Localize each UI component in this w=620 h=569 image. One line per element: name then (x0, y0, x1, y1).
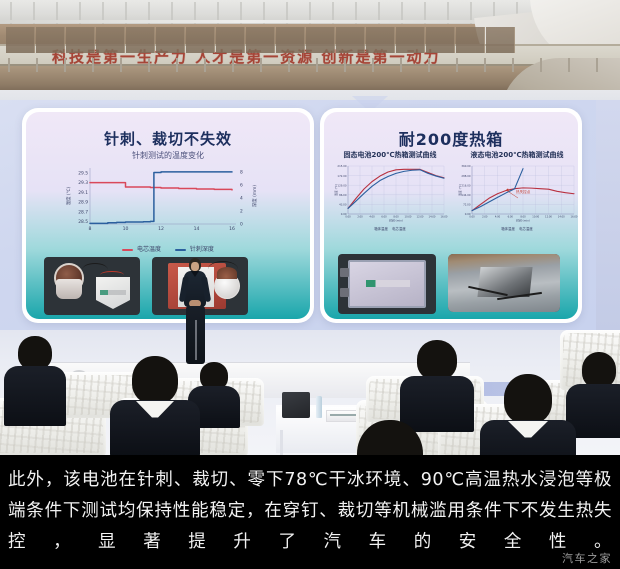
svg-text:6:00: 6:00 (381, 216, 387, 219)
svg-text:28.9: 28.9 (78, 200, 88, 206)
svg-text:10: 10 (123, 226, 129, 232)
railing-post (288, 58, 290, 72)
balcony-panel (246, 27, 275, 53)
legend-swatch-blue (175, 249, 186, 251)
svg-text:10:00: 10:00 (405, 216, 412, 219)
balcony-panel (426, 27, 455, 53)
audience-member (330, 420, 450, 455)
railing-post (456, 58, 458, 72)
svg-text:时间 (min): 时间 (min) (389, 219, 403, 223)
svg-text:4:00: 4:00 (495, 216, 501, 219)
svg-text:14:00: 14:00 (558, 216, 565, 219)
balcony-panel (36, 27, 65, 53)
svg-text:86.00: 86.00 (339, 193, 347, 197)
svg-text:144.00: 144.00 (461, 193, 470, 197)
audience-head (132, 356, 178, 404)
svg-text:2:00: 2:00 (482, 216, 488, 219)
audience-head (417, 340, 457, 380)
svg-text:8: 8 (240, 170, 243, 176)
svg-text:28.5: 28.5 (78, 219, 88, 225)
left-chart-legend: 电芯温度 针刺深度 (26, 244, 310, 253)
railing-post (372, 58, 374, 72)
audience-head (18, 336, 52, 370)
solid-state-thermal-chart: 215.00172.00129.0086.0043.000.000:002:00… (332, 162, 448, 224)
solid-state-chart-legend: 箱体温度 电芯温度 (332, 226, 448, 231)
balcony-panel (366, 27, 395, 53)
slide-card-left: 针刺、裁切不失效 针刺测试的温度变化 28.528.728.929.129.32… (22, 108, 314, 323)
test-wire-2 (208, 261, 238, 277)
audience-member (4, 336, 66, 426)
caption-bar: 此外，该电池在针刺、裁切、零下78℃干冰环境、90℃高温热水浸泡等极端条件下测试… (0, 455, 620, 569)
railing-post (316, 58, 318, 72)
clamp-bottom (340, 288, 349, 297)
audience-member (400, 340, 474, 432)
equipment-box (282, 392, 310, 418)
slide-card-left-inner: 针刺、裁切不失效 针刺测试的温度变化 28.528.728.929.129.32… (26, 112, 310, 319)
balcony-panel (6, 27, 35, 53)
balcony-panel (96, 27, 125, 53)
railing-post (428, 58, 430, 72)
svg-text:温度 (℃): 温度 (℃) (458, 184, 462, 196)
svg-text:172.00: 172.00 (337, 174, 346, 178)
svg-text:0: 0 (240, 222, 243, 228)
caption-text: 此外，该电池在针刺、裁切、零下78℃干冰环境、90℃高温热水浸泡等极端条件下测试… (8, 465, 612, 558)
svg-text:216.00: 216.00 (461, 183, 470, 187)
audience-member (480, 374, 576, 455)
watermark: 汽车之家 (562, 550, 612, 566)
railing-post (92, 58, 94, 72)
left-panel-title: 针刺、裁切不失效 (26, 128, 310, 149)
railing-post (148, 58, 150, 72)
svg-text:16:00: 16:00 (441, 216, 448, 219)
liquid-chart-legend: 箱体温度 电芯温度 (456, 226, 578, 231)
audience-head (357, 420, 423, 455)
led-screen-edge (596, 100, 620, 330)
railing-post (568, 58, 570, 72)
needle-puncture-jar-photo (44, 257, 140, 315)
railing-post (596, 58, 598, 72)
slide-card-right-inner: 耐200度热箱 固态电池200℃热箱测试曲线 液态电池200℃热箱测试曲线 21… (324, 112, 578, 319)
svg-text:16: 16 (229, 226, 235, 232)
presenter-face (191, 262, 199, 271)
clamp-top (340, 268, 349, 277)
railing-post (400, 58, 402, 72)
railing-post (512, 58, 514, 72)
svg-text:28.7: 28.7 (78, 209, 88, 215)
left-panel-subtitle: 针刺测试的温度变化 (26, 150, 310, 161)
railing-post (260, 58, 262, 72)
legend-label-box-temp-1: 箱体温度 (374, 227, 388, 231)
svg-text:6:00: 6:00 (508, 216, 514, 219)
balcony-panel (336, 27, 365, 53)
balcony-panel (216, 27, 245, 53)
jar-body (56, 279, 82, 299)
legend-label-cell-temp-2: 电芯温度 (519, 227, 533, 231)
presenter-leg-gap (195, 320, 197, 360)
presenter (180, 258, 210, 366)
svg-text:29.3: 29.3 (78, 180, 88, 186)
legend-label-needle-depth: 针刺深度 (190, 246, 214, 253)
balcony-panel (186, 27, 215, 53)
svg-text:0:00: 0:00 (469, 216, 475, 219)
svg-text:16:00: 16:00 (571, 216, 578, 219)
railing-post (8, 58, 10, 72)
svg-text:2: 2 (240, 209, 243, 215)
legend-swatch-red (122, 249, 133, 251)
thermal-runaway-annotation: 热失控点 (516, 190, 530, 195)
svg-text:14:00: 14:00 (429, 216, 436, 219)
legend-item-cell-temp: 电芯温度 (122, 244, 161, 253)
balcony-panel (456, 27, 485, 53)
railing-post (204, 58, 206, 72)
needle-puncture-chart: 28.528.728.929.129.329.502468810121416温度… (56, 162, 272, 240)
svg-text:温度 (℃): 温度 (℃) (334, 184, 338, 196)
water-bottle (316, 396, 322, 418)
audience-member (110, 356, 200, 455)
railing-post (176, 58, 178, 72)
liquid-chart-title: 液态电池200℃热箱测试曲线 (454, 150, 578, 160)
svg-text:10:00: 10:00 (532, 216, 539, 219)
slide-card-right: 耐200度热箱 固态电池200℃热箱测试曲线 液态电池200℃热箱测试曲线 21… (320, 108, 582, 323)
svg-text:29.5: 29.5 (78, 170, 88, 176)
svg-text:29.1: 29.1 (78, 190, 88, 196)
table-leg-left (280, 430, 283, 455)
audience-head (582, 352, 616, 388)
railing-post (232, 58, 234, 72)
railing-post (540, 58, 542, 72)
right-panel-title: 耐200度热箱 (324, 126, 578, 150)
railing-post (484, 58, 486, 72)
solid-state-thermal-chart-svg: 215.00172.00129.0086.0043.000.000:002:00… (332, 162, 448, 224)
svg-text:12:00: 12:00 (545, 216, 552, 219)
svg-text:0:00: 0:00 (345, 216, 351, 219)
balcony-panel (486, 27, 515, 53)
svg-text:288.00: 288.00 (461, 174, 470, 178)
svg-text:215.00: 215.00 (337, 164, 346, 168)
svg-text:360.00: 360.00 (461, 164, 470, 168)
svg-text:72.00: 72.00 (463, 203, 471, 207)
svg-text:8: 8 (89, 226, 92, 232)
railing-post (344, 58, 346, 72)
balcony-panel (66, 27, 95, 53)
balcony-panel (126, 27, 155, 53)
balcony-panel (156, 27, 185, 53)
solid-state-chart-title: 固态电池200℃热箱测试曲线 (330, 150, 450, 160)
svg-text:深度 (mm): 深度 (mm) (251, 185, 258, 207)
railing-post (120, 58, 122, 72)
audience-body (4, 366, 66, 426)
conference-photo: 科技是第一生产力 人才是第一资源 创新是第一动力 针刺、裁切不失效 针刺测试的温… (0, 0, 620, 455)
balcony-panel (306, 27, 335, 53)
svg-text:129.00: 129.00 (337, 183, 346, 187)
svg-text:12:00: 12:00 (417, 216, 424, 219)
legend-label-box-temp-2: 箱体温度 (501, 227, 515, 231)
audience-head (504, 374, 552, 424)
svg-text:6: 6 (240, 183, 243, 189)
svg-text:43.00: 43.00 (339, 203, 347, 207)
balcony-panel (276, 27, 305, 53)
svg-text:4: 4 (240, 196, 243, 202)
svg-text:4:00: 4:00 (369, 216, 375, 219)
legend-item-needle-depth: 针刺深度 (175, 244, 214, 253)
burned-module (478, 267, 533, 297)
solid-state-cell-photo (338, 254, 436, 314)
pouch-cell-logo (100, 290, 126, 295)
svg-text:14: 14 (194, 226, 200, 232)
screenshot-root: 科技是第一生产力 人才是第一资源 创新是第一动力 针刺、裁切不失效 针刺测试的温… (0, 0, 620, 569)
balcony-panel (396, 27, 425, 53)
svg-text:时间 (min): 时间 (min) (516, 219, 530, 223)
svg-text:12: 12 (158, 226, 164, 232)
test-wire-red (100, 271, 124, 279)
svg-text:温度 (℃): 温度 (℃) (65, 186, 72, 205)
burned-cell-photo (448, 254, 560, 312)
railing-post (64, 58, 66, 72)
railing-post (36, 58, 38, 72)
cell-brand-logo (366, 280, 410, 287)
needle-puncture-chart-svg: 28.528.728.929.129.329.502468810121416温度… (56, 162, 272, 240)
legend-label-cell-temp: 电芯温度 (137, 246, 161, 253)
svg-text:2:00: 2:00 (357, 216, 363, 219)
legend-label-cell-temp-1: 电芯温度 (392, 227, 406, 231)
